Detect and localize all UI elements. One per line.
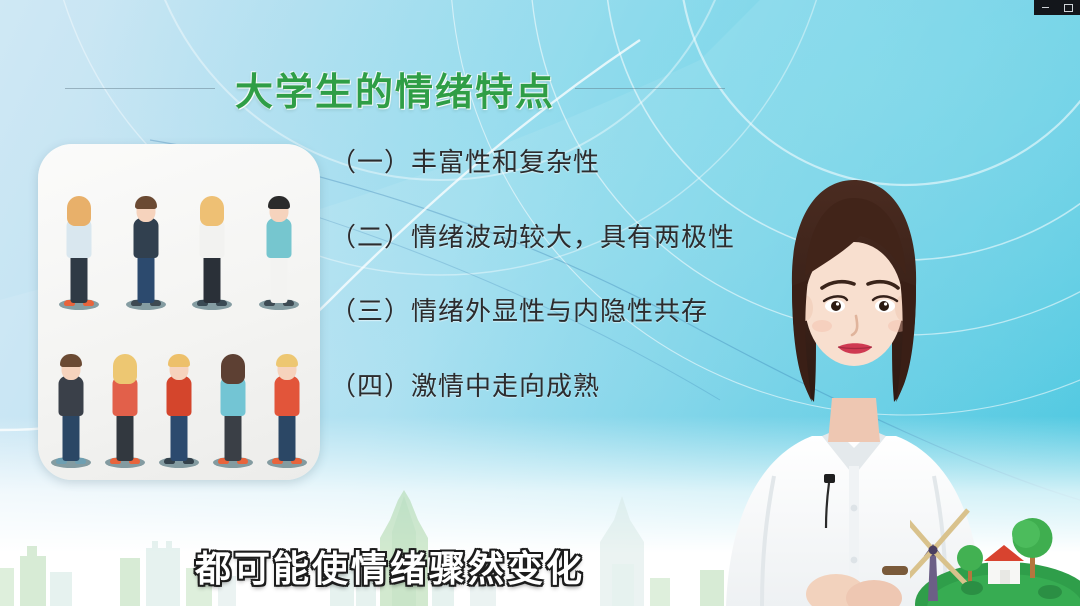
figure-hair (168, 354, 190, 367)
figure-torso (133, 218, 158, 258)
students-top-row (38, 160, 320, 310)
students-illustration-panel (38, 144, 320, 480)
figure-hair (221, 354, 245, 384)
figure-torso (167, 376, 192, 416)
slide-stage: 大学生的情绪特点 （一）丰富性和复杂性 （二）情绪波动较大，具有两极性 （三）情… (0, 0, 1080, 606)
figure-hair (200, 196, 224, 226)
figure-hair (67, 196, 91, 226)
student-3 (189, 160, 235, 310)
student-8 (210, 322, 256, 468)
maximize-icon[interactable] (1063, 2, 1074, 13)
window-controls[interactable] (1034, 0, 1080, 15)
figure-torso (59, 376, 84, 416)
title-row: 大学生的情绪特点 (0, 62, 790, 114)
student-6 (102, 322, 148, 468)
student-5 (48, 322, 94, 468)
student-7 (156, 322, 202, 468)
figure-hair (135, 196, 157, 209)
figure-torso (275, 376, 300, 416)
figure-hair (268, 196, 290, 209)
student-2 (123, 160, 169, 310)
title-divider-right (575, 88, 725, 89)
figure-hair (60, 354, 82, 367)
students-bottom-row (38, 322, 320, 468)
title-divider-left (65, 88, 215, 89)
figure-hair (113, 354, 137, 384)
student-9 (264, 322, 310, 468)
figure-torso (266, 218, 291, 258)
student-4 (256, 160, 302, 310)
page-title: 大学生的情绪特点 (235, 61, 555, 116)
video-subtitle: 都可能使情绪骤然变化 (0, 540, 780, 592)
student-1 (56, 160, 102, 310)
minimize-icon[interactable] (1040, 2, 1051, 13)
windmill-village-scene (910, 476, 1080, 606)
figure-hair (276, 354, 298, 367)
